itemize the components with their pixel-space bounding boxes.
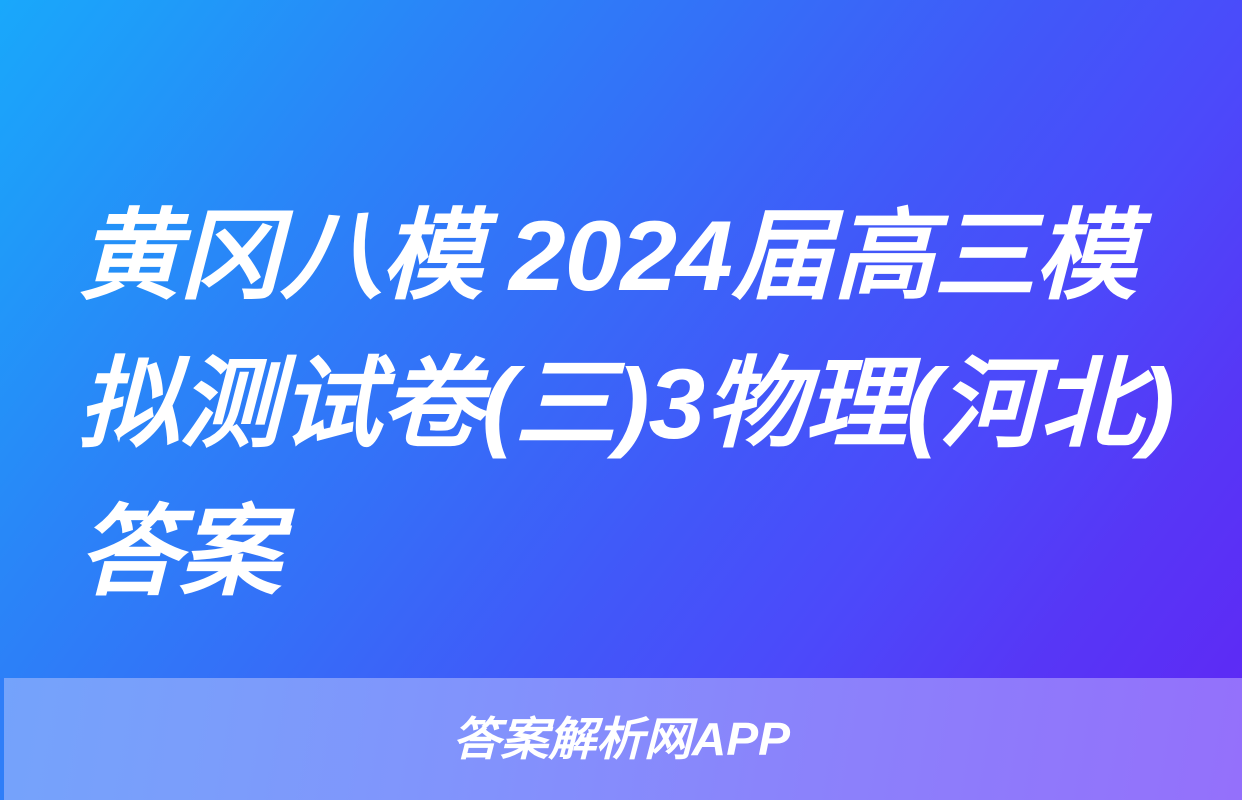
page-title: 黄冈八模 2024届高三模拟测试卷(三)3物理(河北)答案 [78, 182, 1201, 626]
poster-title-block: 黄冈八模 2024届高三模拟测试卷(三)3物理(河北)答案 [78, 182, 1168, 626]
footer-brand-label: 答案解析网APP [452, 716, 790, 762]
poster-root: 黄冈八模 2024届高三模拟测试卷(三)3物理(河北)答案 答案解析网APP [0, 0, 1242, 800]
footer-brand: 答案解析网APP [0, 678, 1242, 800]
